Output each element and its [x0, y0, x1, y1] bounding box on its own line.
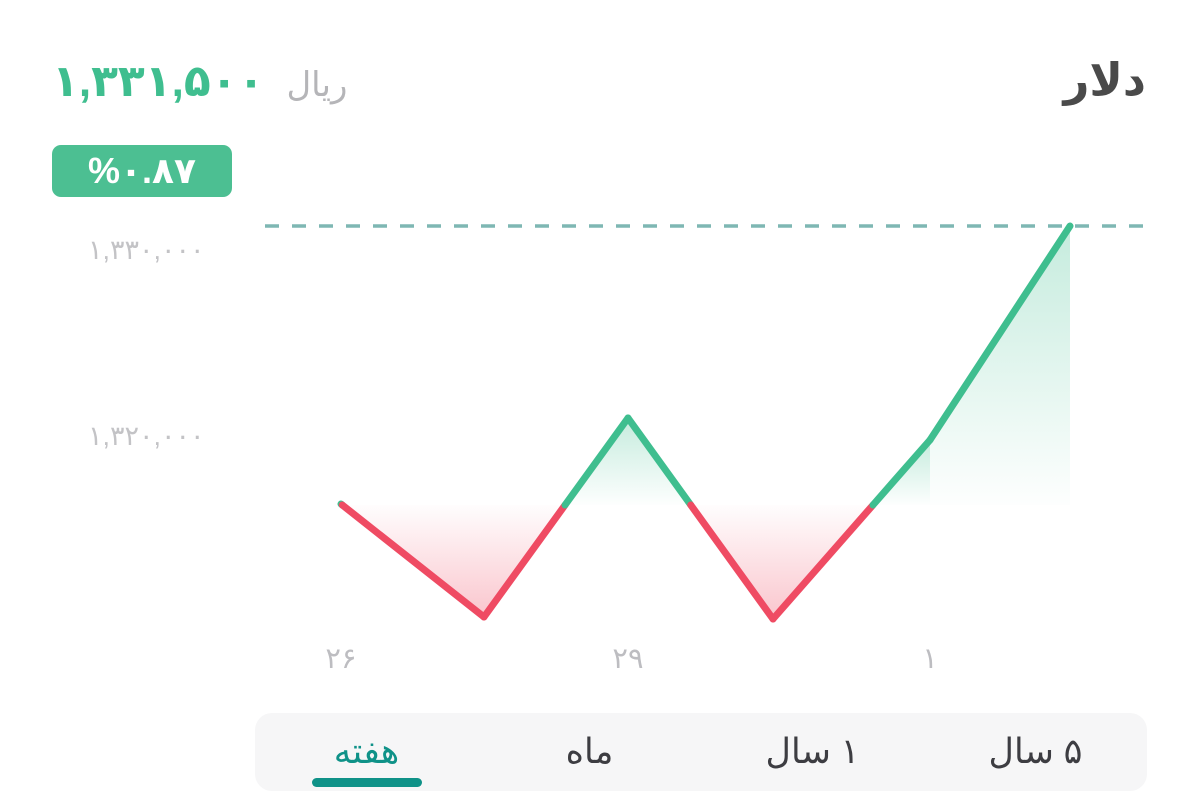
range-tab-3[interactable]: ۵ سال [924, 713, 1147, 791]
range-tab-2[interactable]: ۱ سال [701, 713, 924, 791]
chart-area-fill [341, 226, 1070, 619]
chart-segment-fill [930, 226, 1070, 505]
range-tab-label: هفته [334, 732, 400, 772]
currency-chart-screen: دلار ۱,۳۳۱,۵۰۰ ریال %۰.۸۷ [0, 0, 1198, 804]
range-tab-0[interactable]: هفته [255, 713, 478, 791]
footer: پیشرفته هفتهماه۱ سال۵ سال [0, 700, 1198, 804]
range-tab-label: ۱ سال [766, 732, 860, 772]
range-tab-bar: هفتهماه۱ سال۵ سال [255, 713, 1147, 791]
range-tab-1[interactable]: ماه [478, 713, 701, 791]
range-tab-label: ۵ سال [989, 732, 1083, 772]
active-tab-underline [312, 778, 422, 787]
price-chart[interactable]: ۱,۳۳۰,۰۰۰ ۱,۳۲۰,۰۰۰ ۲۶۲۹۱ [0, 0, 1198, 700]
chart-canvas [0, 0, 1198, 700]
range-tab-label: ماه [566, 732, 614, 772]
